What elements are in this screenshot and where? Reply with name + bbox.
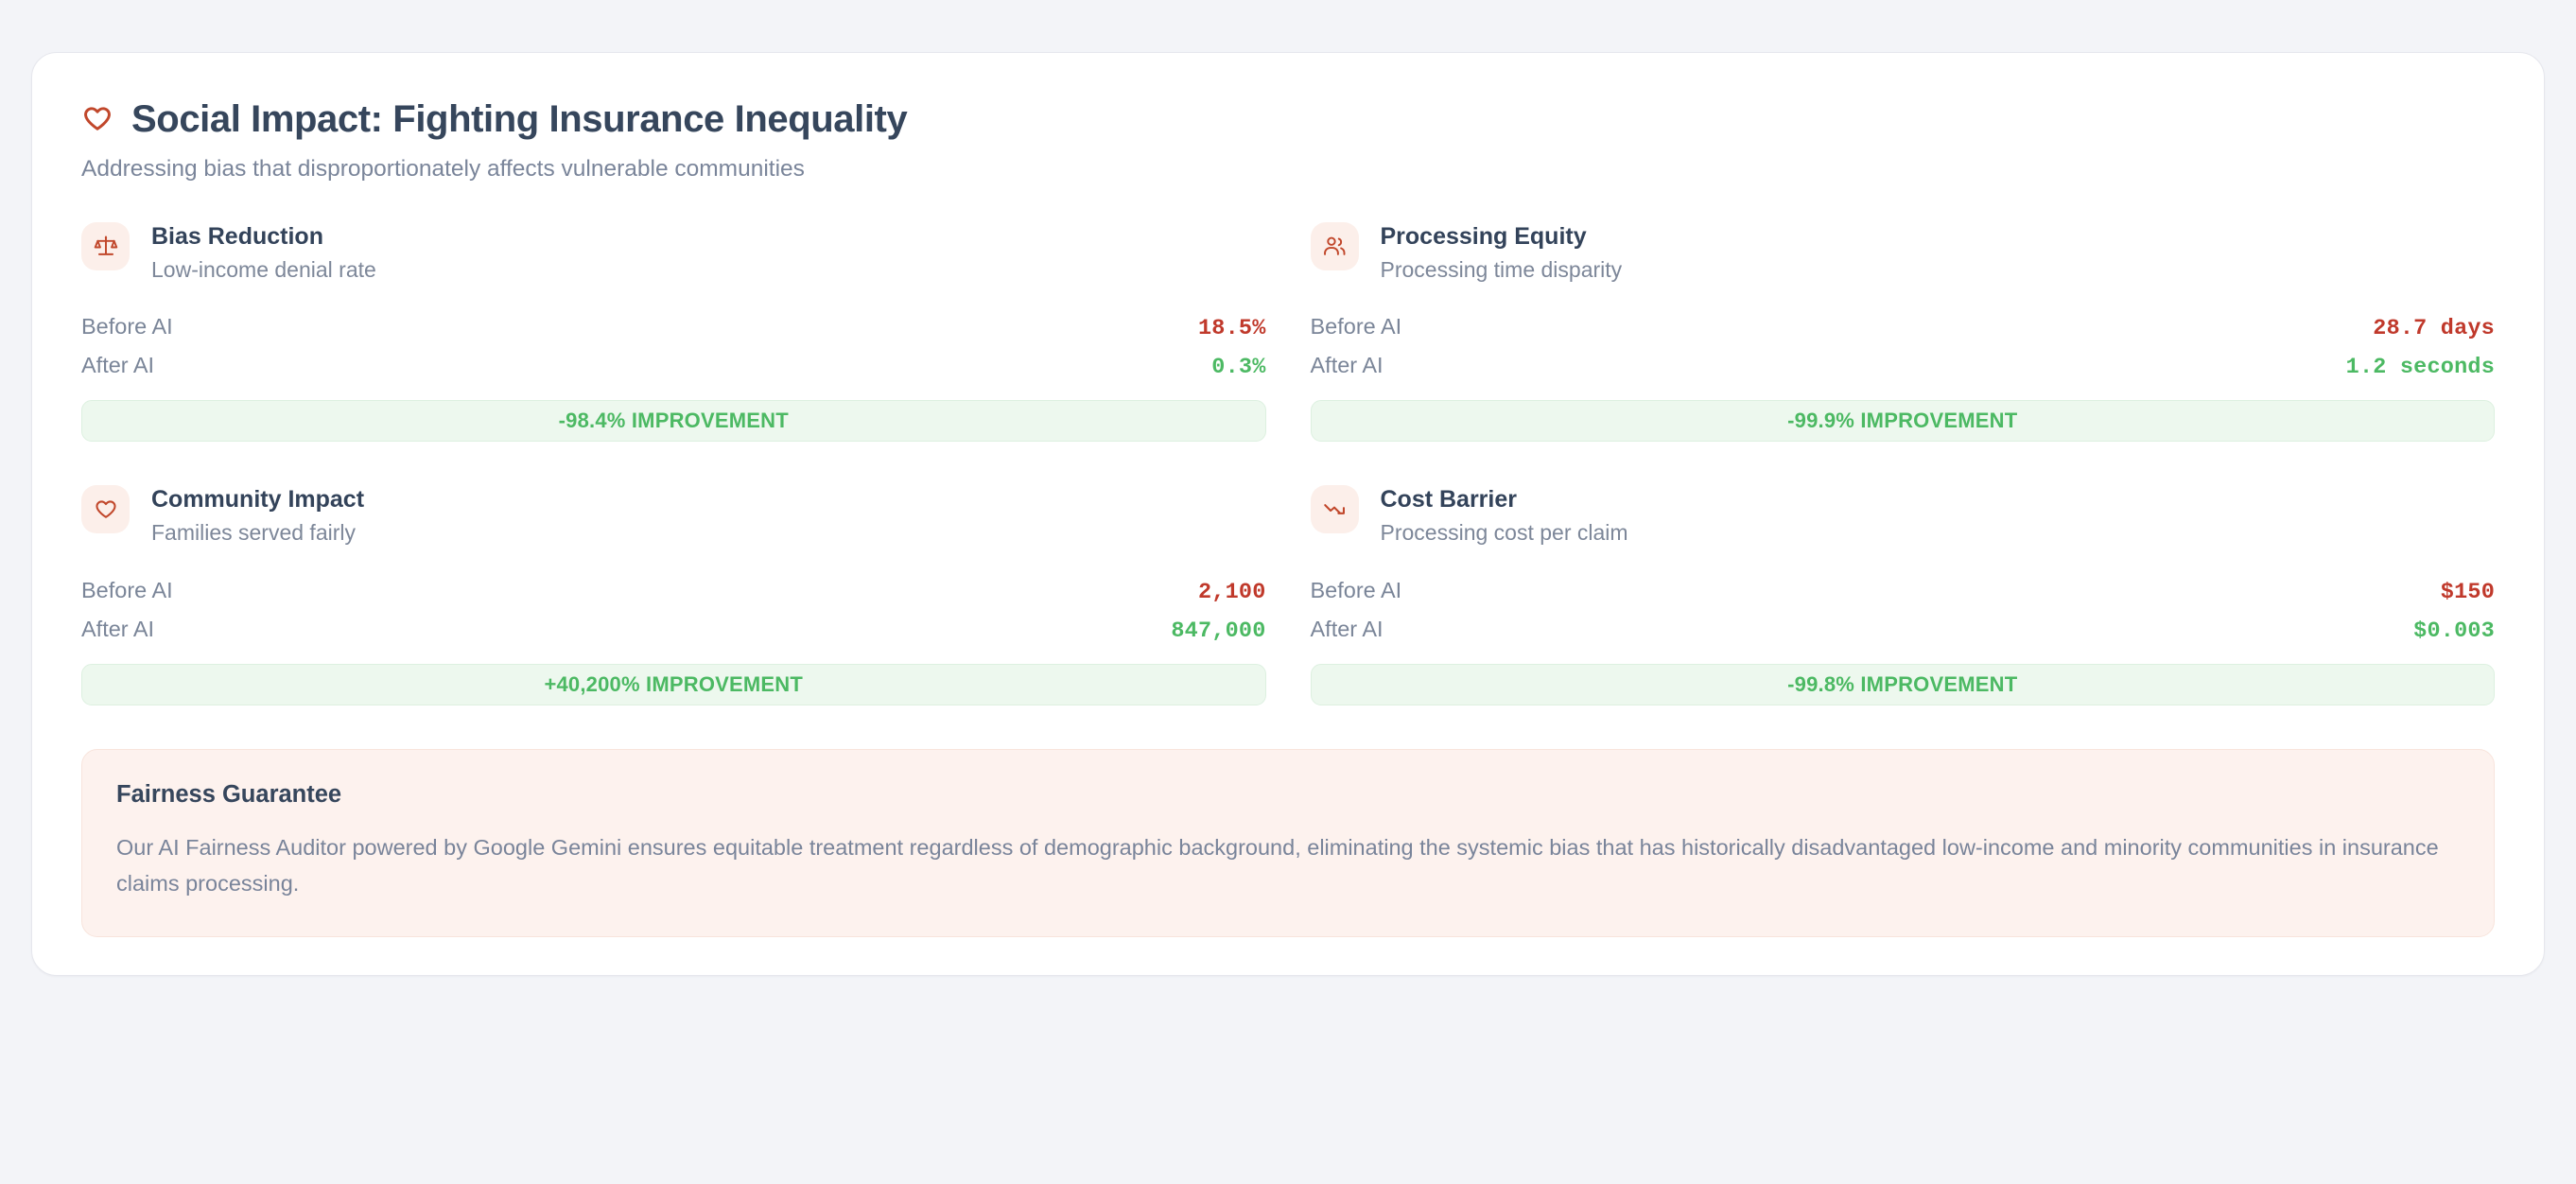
metric-description: Processing time disparity [1381, 257, 1623, 284]
metric-titles: Processing Equity Processing time dispar… [1381, 222, 1623, 283]
row-value-before: 18.5% [1198, 316, 1266, 341]
improvement-badge: -98.4% IMPROVEMENT [81, 400, 1266, 442]
page-root: Social Impact: Fighting Insurance Inequa… [0, 0, 2576, 1184]
metric-card-community-impact: Community Impact Families served fairly … [81, 485, 1266, 705]
metric-rows: Before AI 18.5% After AI 0.3% [81, 308, 1266, 386]
metric-header: Cost Barrier Processing cost per claim [1311, 485, 2496, 546]
row-label-after: After AI [81, 617, 154, 642]
row-label-before: Before AI [81, 314, 173, 340]
metric-description: Processing cost per claim [1381, 520, 1628, 547]
card-header: Social Impact: Fighting Insurance Inequa… [81, 98, 2495, 184]
metric-name: Processing Equity [1381, 223, 1623, 251]
metric-rows: Before AI $150 After AI $0.003 [1311, 572, 2496, 650]
row-value-after: $0.003 [2413, 618, 2495, 644]
row-label-after: After AI [1311, 617, 1384, 642]
improvement-label: -99.9% IMPROVEMENT [1787, 409, 2017, 433]
row-value-before: $150 [2441, 580, 2495, 605]
row-value-after: 1.2 seconds [2346, 355, 2495, 380]
improvement-badge: -99.8% IMPROVEMENT [1311, 664, 2496, 705]
metric-card-bias-reduction: Bias Reduction Low-income denial rate Be… [81, 222, 1266, 442]
metric-titles: Community Impact Families served fairly [151, 485, 364, 546]
fairness-guarantee-title: Fairness Guarantee [116, 781, 2460, 809]
improvement-label: -99.8% IMPROVEMENT [1787, 672, 2017, 697]
metric-name: Bias Reduction [151, 223, 376, 251]
metric-titles: Cost Barrier Processing cost per claim [1381, 485, 1628, 546]
trending-down-icon [1311, 485, 1359, 533]
metrics-grid: Bias Reduction Low-income denial rate Be… [81, 222, 2495, 705]
row-label-before: Before AI [1311, 314, 1402, 340]
metric-header: Bias Reduction Low-income denial rate [81, 222, 1266, 283]
metric-row-before: Before AI $150 [1311, 572, 2496, 611]
row-value-after: 0.3% [1211, 355, 1265, 380]
metric-description: Low-income denial rate [151, 257, 376, 284]
metric-name: Community Impact [151, 486, 364, 514]
metric-header: Processing Equity Processing time dispar… [1311, 222, 2496, 283]
metric-name: Cost Barrier [1381, 486, 1628, 514]
row-value-before: 28.7 days [2373, 316, 2495, 341]
fairness-guarantee-text: Our AI Fairness Auditor powered by Googl… [116, 829, 2460, 902]
metric-card-cost-barrier: Cost Barrier Processing cost per claim B… [1311, 485, 2496, 705]
metric-card-processing-equity: Processing Equity Processing time dispar… [1311, 222, 2496, 442]
balance-scale-icon [81, 222, 130, 270]
metric-row-before: Before AI 2,100 [81, 572, 1266, 611]
metric-row-before: Before AI 18.5% [81, 308, 1266, 347]
row-label-after: After AI [1311, 353, 1384, 378]
metric-row-after: After AI 847,000 [81, 611, 1266, 650]
heart-outline-icon [81, 103, 113, 135]
fairness-guarantee-box: Fairness Guarantee Our AI Fairness Audit… [81, 749, 2495, 938]
metric-header: Community Impact Families served fairly [81, 485, 1266, 546]
row-label-before: Before AI [1311, 578, 1402, 603]
row-label-after: After AI [81, 353, 154, 378]
improvement-label: -98.4% IMPROVEMENT [559, 409, 789, 433]
title-row: Social Impact: Fighting Insurance Inequa… [81, 98, 2495, 140]
page-title: Social Impact: Fighting Insurance Inequa… [131, 98, 907, 140]
improvement-label: +40,200% IMPROVEMENT [544, 672, 803, 697]
page-subtitle: Addressing bias that disproportionately … [81, 154, 2495, 184]
metric-description: Families served fairly [151, 520, 364, 547]
users-group-icon [1311, 222, 1359, 270]
metric-row-after: After AI $0.003 [1311, 611, 2496, 650]
row-value-before: 2,100 [1198, 580, 1266, 605]
heart-outline-icon [81, 485, 130, 533]
social-impact-card: Social Impact: Fighting Insurance Inequa… [31, 52, 2545, 976]
metric-row-before: Before AI 28.7 days [1311, 308, 2496, 347]
metric-row-after: After AI 1.2 seconds [1311, 347, 2496, 386]
row-label-before: Before AI [81, 578, 173, 603]
improvement-badge: +40,200% IMPROVEMENT [81, 664, 1266, 705]
metric-titles: Bias Reduction Low-income denial rate [151, 222, 376, 283]
metric-rows: Before AI 28.7 days After AI 1.2 seconds [1311, 308, 2496, 386]
improvement-badge: -99.9% IMPROVEMENT [1311, 400, 2496, 442]
metric-rows: Before AI 2,100 After AI 847,000 [81, 572, 1266, 650]
metric-row-after: After AI 0.3% [81, 347, 1266, 386]
row-value-after: 847,000 [1171, 618, 1265, 644]
